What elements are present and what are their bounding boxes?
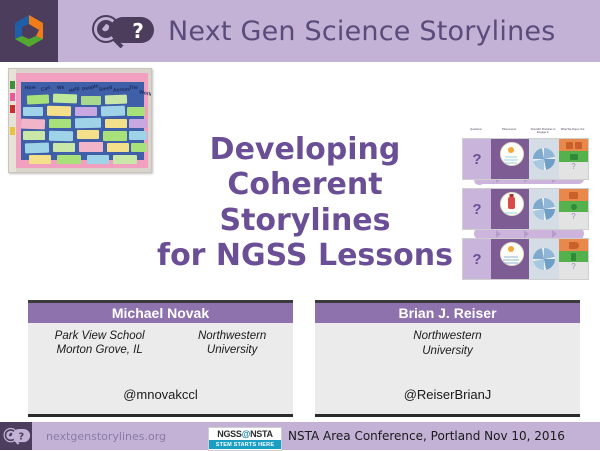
presenter-name: Michael Novak	[28, 300, 293, 323]
presenter-affiliation: NorthwesternUniversity	[315, 329, 580, 359]
ngss-nsta-logo: NGSS@NSTA STEM STARTS HERE	[208, 427, 282, 451]
phenomenon-circle-3	[491, 239, 529, 279]
phenomenon-circle-2	[491, 189, 529, 229]
col-header-figure-out: What We Figure Out	[558, 128, 587, 138]
outcome-question: ?	[559, 262, 588, 279]
practice-wheel-2	[529, 189, 559, 229]
header-title: Next Gen Science Storylines	[168, 16, 555, 47]
practice-wheel-3	[529, 239, 559, 279]
slide: ? Next Gen Science Storylines How Can We…	[0, 0, 600, 450]
storyline-row: ? ?	[462, 188, 589, 230]
presenter-handle[interactable]: @ReiserBrianJ	[315, 387, 580, 402]
storyline-column-headers: Questions Phenomena Scientific Practices…	[462, 128, 587, 138]
nsta-logo-ngss: NGSS	[217, 429, 241, 439]
col-header-practices: Scientific Practices to Engage In	[528, 128, 558, 138]
storyline-diagram: Questions Phenomena Scientific Practices…	[458, 128, 598, 278]
nsta-logo-tagline: STEM STARTS HERE	[209, 440, 281, 449]
page-title: Developing Coherent Storylines for NGSS …	[150, 132, 460, 274]
nsta-logo-nsta: NSTA	[250, 429, 273, 439]
footer-url[interactable]: nextgenstorylines.org	[46, 430, 166, 443]
practice-wheel-1	[529, 139, 559, 179]
outcome-bars-1: ?	[559, 139, 588, 179]
outcome-question: ?	[559, 162, 588, 179]
presenter-affiliation-left: Park View SchoolMorton Grove, IL	[55, 329, 145, 358]
magnifier-question-icon: ?	[0, 422, 32, 450]
presenter-name: Brian J. Reiser	[315, 300, 580, 323]
storyline-row: ? ?	[462, 238, 589, 280]
conference-label: NSTA Area Conference, Portland Nov 10, 2…	[288, 429, 565, 443]
magnifier-question-icon: ?	[84, 14, 156, 48]
ngss-pinwheel-logo	[0, 0, 58, 62]
svg-text:?: ?	[132, 19, 144, 43]
title-line-3: for NGSS Lessons	[150, 238, 460, 273]
svg-text:?: ?	[18, 432, 24, 443]
presenter-handle[interactable]: @mnovakccl	[28, 387, 293, 402]
phenomenon-circle-1	[491, 139, 529, 179]
presenter-affiliation-right: NorthwesternUniversity	[198, 329, 266, 358]
row-question-cell: ?	[463, 139, 491, 179]
driving-question-board-photo: How Can We Help People Smell Across The …	[8, 68, 152, 173]
col-header-questions: Questions	[462, 128, 490, 138]
presenter-card-novak: Michael Novak Park View SchoolMorton Gro…	[28, 300, 293, 417]
title-line-1: Developing	[150, 132, 460, 167]
row-question-cell: ?	[463, 189, 491, 229]
title-line-2: Coherent Storylines	[150, 167, 460, 238]
presenter-card-reiser: Brian J. Reiser NorthwesternUniversity @…	[315, 300, 580, 417]
row-question-cell: ?	[463, 239, 491, 279]
header-bar: ? Next Gen Science Storylines	[0, 0, 600, 62]
col-header-phenomena: Phenomena	[490, 128, 528, 138]
storyline-row: ? ?	[462, 138, 589, 180]
nsta-logo-at: @	[242, 429, 250, 439]
outcome-bars-3: ?	[559, 239, 588, 279]
outcome-question: ?	[559, 212, 588, 229]
pinwheel-icon	[9, 11, 49, 51]
outcome-bars-2: ?	[559, 189, 588, 229]
